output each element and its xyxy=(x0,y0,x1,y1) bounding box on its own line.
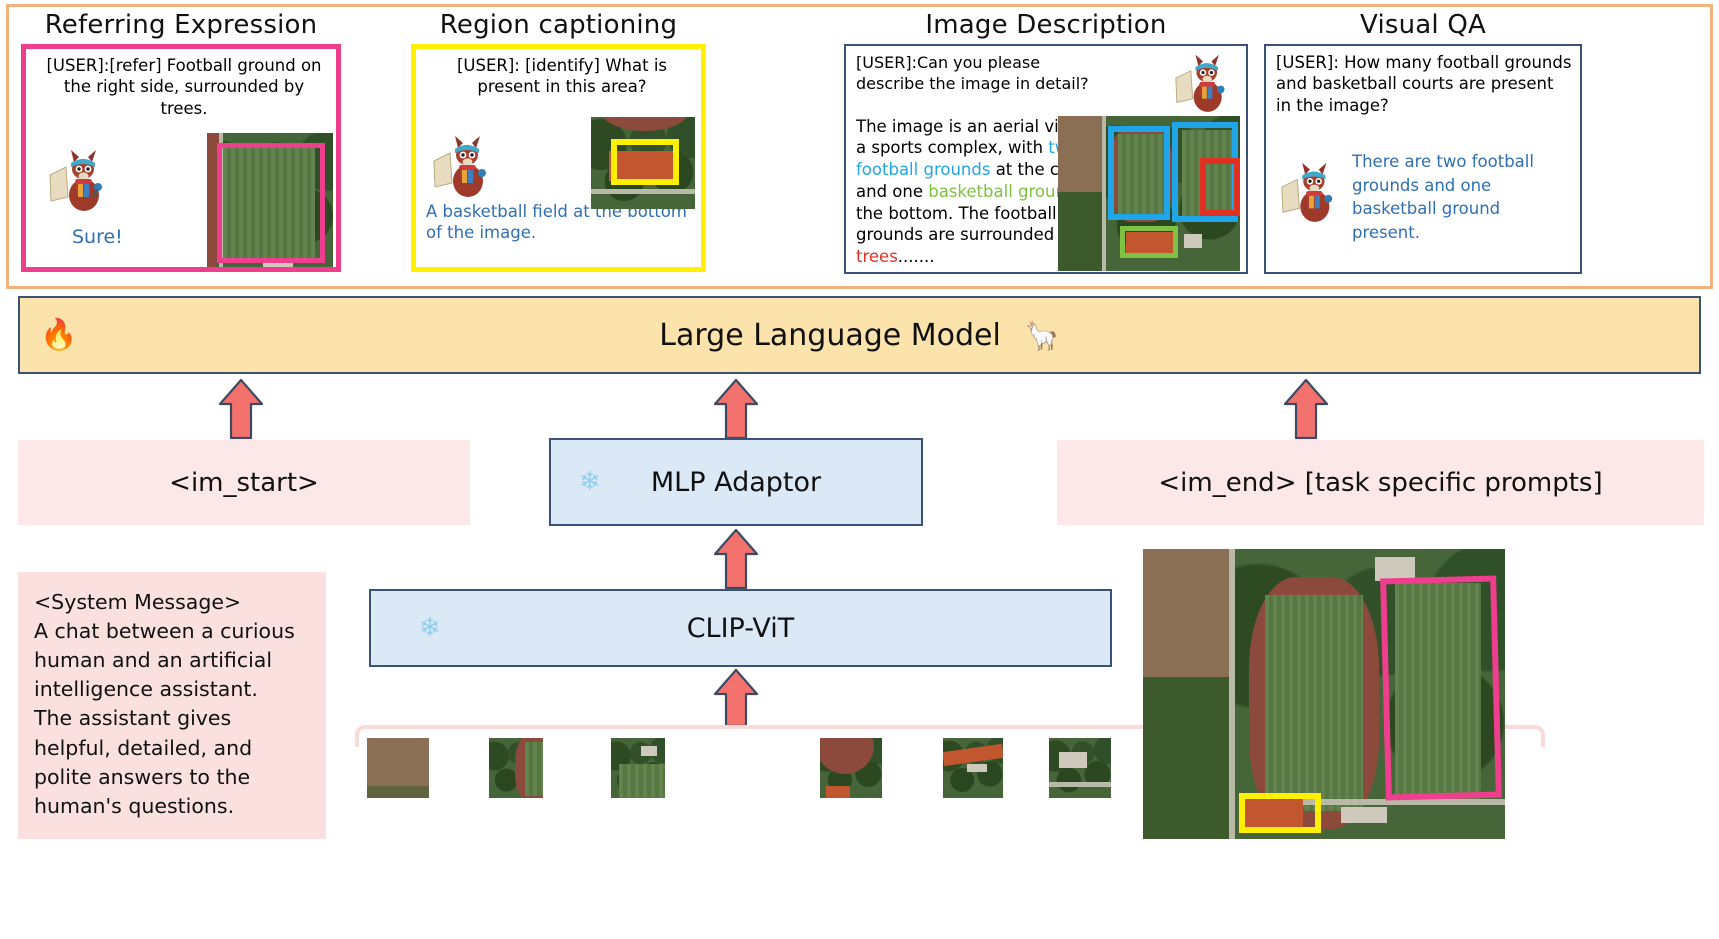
answer-seg-6: ....... xyxy=(898,247,935,266)
task-title-region-captioning: Region captioning xyxy=(411,11,706,40)
task-question-region-captioning: [USER]: [identify] What is present in th… xyxy=(426,55,698,99)
im-start-token-box: <im_start> xyxy=(18,440,470,525)
im-start-label: <im_start> xyxy=(169,468,319,498)
image-patch xyxy=(820,738,882,798)
task-card-referring-expression: [USER]:[refer] Football ground on the ri… xyxy=(21,44,341,272)
fire-icon: 🔥 xyxy=(40,318,77,353)
task-examples-strip: Referring Expression [USER]:[refer] Foot… xyxy=(6,4,1713,289)
task-panel-region-captioning: Region captioning [USER]: [identify] Wha… xyxy=(411,7,706,272)
arrow-im-end-to-llm xyxy=(1283,378,1329,440)
system-message-line: helpful, detailed, and xyxy=(34,734,312,763)
avatar-llama xyxy=(432,129,494,199)
task-image-referring-expression xyxy=(207,133,333,271)
avatar-llama xyxy=(1174,48,1232,114)
system-message-line: A chat between a curious xyxy=(34,617,312,646)
system-message-header: <System Message> xyxy=(34,588,312,617)
bbox-trees-region xyxy=(1200,158,1240,216)
system-message-line: human and an artificial xyxy=(34,646,312,675)
system-message-line: intelligence assistant. xyxy=(34,675,312,704)
task-question-image-description: [USER]:Can you please describe the image… xyxy=(856,52,1102,94)
llama-icon: 🦙 xyxy=(1025,319,1060,352)
task-image-image-description xyxy=(1058,116,1240,271)
task-title-visual-qa: Visual QA xyxy=(1264,11,1582,40)
diagram-root: Referring Expression [USER]:[refer] Foot… xyxy=(0,0,1719,939)
system-message-line: human's questions. xyxy=(34,792,312,821)
im-end-label: <im_end> [task specific prompts] xyxy=(1158,468,1602,498)
llm-title: Large Language Model xyxy=(659,318,1001,353)
bbox-football-ground xyxy=(1380,576,1502,801)
task-answer-visual-qa: There are two football grounds and one b… xyxy=(1352,150,1538,246)
task-question-referring-expression: [USER]:[refer] Football ground on the ri… xyxy=(38,55,330,120)
task-title-referring-expression: Referring Expression xyxy=(21,11,341,40)
arrow-patches-to-clip xyxy=(713,668,759,728)
bbox-basketball-court xyxy=(1239,793,1321,833)
image-patch xyxy=(489,738,543,798)
task-title-image-description: Image Description xyxy=(844,11,1248,40)
snowflake-icon: ❄ xyxy=(579,467,601,497)
arrow-im-start-to-llm xyxy=(218,378,264,440)
task-panel-visual-qa: Visual QA [USER]: How many football grou… xyxy=(1264,7,1582,274)
task-answer-referring-expression: Sure! xyxy=(72,225,123,250)
input-image xyxy=(1143,549,1505,839)
arrow-clip-to-mlp xyxy=(713,528,759,590)
task-image-region-captioning xyxy=(591,117,695,209)
avatar-llama xyxy=(1280,156,1340,224)
task-card-region-captioning: [USER]: [identify] What is present in th… xyxy=(411,44,706,272)
task-card-visual-qa: [USER]: How many football grounds and ba… xyxy=(1264,44,1582,274)
snowflake-icon: ❄ xyxy=(419,613,441,643)
image-patch xyxy=(1049,738,1111,798)
bbox-football-ground-left xyxy=(1108,126,1170,220)
im-end-token-box: <im_end> [task specific prompts] xyxy=(1057,440,1704,525)
task-card-image-description: [USER]:Can you please describe the image… xyxy=(844,44,1248,274)
task-panel-referring-expression: Referring Expression [USER]:[refer] Foot… xyxy=(21,7,341,272)
bbox-basketball-ground xyxy=(1120,226,1178,258)
avatar-llama xyxy=(48,143,110,213)
bbox-basketball-court xyxy=(611,139,679,185)
image-patch xyxy=(611,738,665,798)
task-question-visual-qa: [USER]: How many football grounds and ba… xyxy=(1276,52,1572,117)
task-panel-image-description: Image Description [USER]:Can you please … xyxy=(844,7,1248,274)
arrow-mlp-to-llm xyxy=(713,378,759,440)
clip-vit-label: CLIP-ViT xyxy=(687,613,795,644)
bbox-football-ground xyxy=(217,143,325,263)
image-patch xyxy=(367,738,429,798)
system-message-line: The assistant gives xyxy=(34,704,312,733)
mlp-adaptor-box: ❄ MLP Adaptor xyxy=(549,438,923,526)
large-language-model-box: 🔥 Large Language Model 🦙 xyxy=(18,296,1701,374)
image-patch xyxy=(943,738,1003,798)
mlp-adaptor-label: MLP Adaptor xyxy=(651,467,821,498)
clip-vit-box: ❄ CLIP-ViT xyxy=(369,589,1112,667)
answer-seg-3: basketball ground xyxy=(928,182,1076,201)
system-message-line: polite answers to the xyxy=(34,763,312,792)
answer-seg-5: trees xyxy=(856,247,898,266)
system-message-box: <System Message> A chat between a curiou… xyxy=(18,572,326,839)
